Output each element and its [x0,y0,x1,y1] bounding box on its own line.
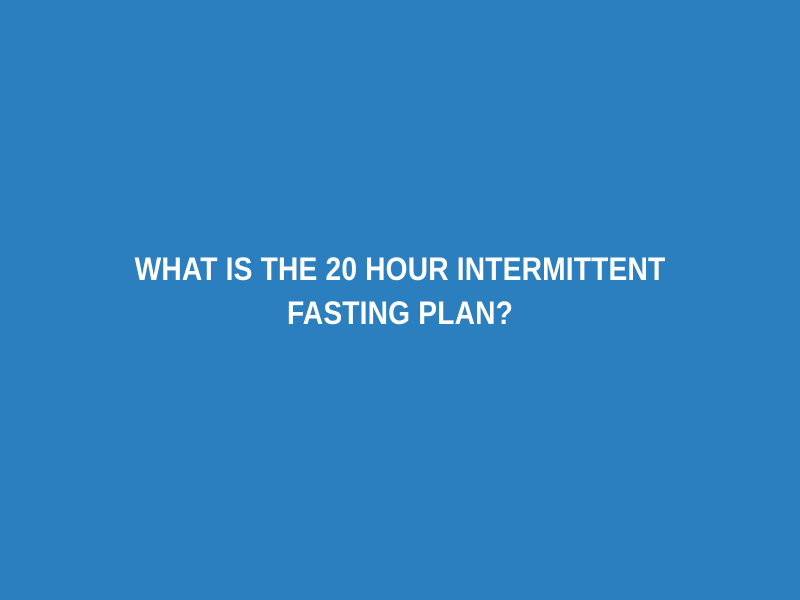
page-title-line-1: WHAT IS THE 20 HOUR INTERMITTENT [87,247,714,291]
title-banner: WHAT IS THE 20 HOUR INTERMITTENT FASTING… [0,0,800,600]
page-title: WHAT IS THE 20 HOUR INTERMITTENT FASTING… [48,247,752,335]
page-title-line-2: FASTING PLAN? [87,291,714,335]
